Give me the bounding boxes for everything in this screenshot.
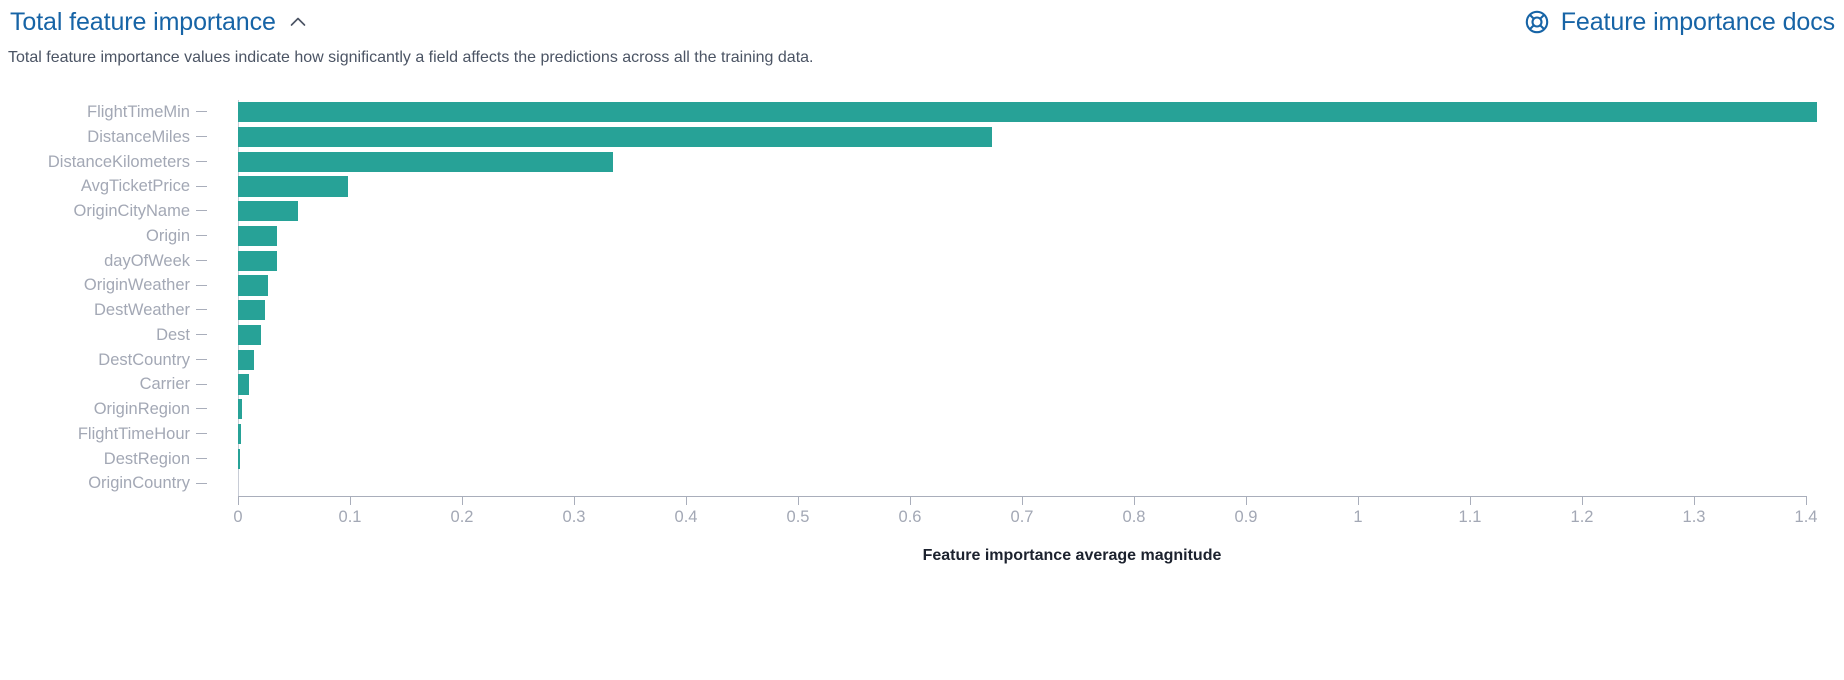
x-axis-tick	[798, 496, 799, 505]
x-axis-tick	[574, 496, 575, 505]
bar-category-label: dayOfWeek	[104, 249, 190, 274]
x-axis-tick-label: 0.3	[563, 508, 586, 527]
bar[interactable]	[238, 226, 277, 246]
y-axis-tick	[196, 359, 207, 360]
y-axis-tick	[196, 111, 207, 112]
feature-importance-panel: Total feature importance Feature importa…	[0, 0, 1844, 680]
x-axis-tick-label: 1.1	[1459, 508, 1482, 527]
x-axis-tick	[686, 496, 687, 505]
x-axis-tick	[1246, 496, 1247, 505]
x-axis-title-text: Feature importance average magnitude	[923, 547, 1222, 564]
x-axis-tick-label: 1.3	[1683, 508, 1706, 527]
x-axis-tick	[1806, 496, 1807, 505]
bar-row[interactable]: DestWeather	[0, 298, 1844, 323]
y-axis-tick	[196, 136, 207, 137]
bar[interactable]	[238, 127, 992, 147]
y-axis-tick	[196, 458, 207, 459]
x-axis-tick-label: 1.4	[1795, 508, 1818, 527]
x-axis-tick-label: 0.7	[1011, 508, 1034, 527]
bar-row[interactable]: dayOfWeek	[0, 249, 1844, 274]
x-axis-tick-label: 0.1	[339, 508, 362, 527]
y-axis-tick	[196, 433, 207, 434]
bar[interactable]	[238, 251, 277, 271]
bar-category-label: OriginCityName	[74, 199, 190, 224]
x-axis-tick-label: 1.2	[1571, 508, 1594, 527]
bar-category-label: OriginCountry	[88, 471, 190, 496]
bar-row[interactable]: AvgTicketPrice	[0, 174, 1844, 199]
bar-category-label: DistanceMiles	[87, 125, 190, 150]
bar-row[interactable]: FlightTimeMin	[0, 100, 1844, 125]
bar-category-label: AvgTicketPrice	[81, 174, 190, 199]
bar-row[interactable]: DistanceKilometers	[0, 150, 1844, 175]
x-axis-tick-label: 0.2	[451, 508, 474, 527]
x-axis-tick	[1358, 496, 1359, 505]
bar[interactable]	[238, 176, 348, 196]
x-axis-tick	[1694, 496, 1695, 505]
x-axis-tick	[238, 496, 239, 505]
bar-row[interactable]: DistanceMiles	[0, 125, 1844, 150]
x-axis-tick-label: 0.5	[787, 508, 810, 527]
panel-description: Total feature importance values indicate…	[8, 46, 813, 70]
bar-row[interactable]: FlightTimeHour	[0, 422, 1844, 447]
bar-category-label: DestWeather	[94, 298, 190, 323]
bar-category-label: DestCountry	[98, 348, 190, 373]
bar[interactable]	[238, 325, 261, 345]
bar-row[interactable]: OriginWeather	[0, 273, 1844, 298]
bar-category-label: DistanceKilometers	[48, 150, 190, 175]
y-axis-tick	[196, 260, 207, 261]
bar-category-label: OriginRegion	[94, 397, 190, 422]
bar[interactable]	[238, 424, 241, 444]
feature-importance-chart: FlightTimeMinDistanceMilesDistanceKilome…	[0, 92, 1844, 680]
help-lifebuoy-icon	[1524, 9, 1550, 35]
bar-category-label: Origin	[146, 224, 190, 249]
chevron-up-icon[interactable]	[288, 12, 308, 32]
x-axis-tick	[1470, 496, 1471, 505]
panel-header: Total feature importance Feature importa…	[0, 0, 1844, 44]
bar[interactable]	[238, 449, 240, 469]
bar[interactable]	[238, 350, 254, 370]
x-axis-title: Feature importance average magnitude	[0, 547, 1844, 565]
bar-category-label: Carrier	[140, 372, 190, 397]
bar-row[interactable]: Carrier	[0, 372, 1844, 397]
page-title: Total feature importance	[10, 7, 276, 37]
bar-category-label: DestRegion	[104, 447, 190, 472]
y-axis-tick	[196, 384, 207, 385]
x-axis-tick	[1022, 496, 1023, 505]
feature-importance-docs-link[interactable]: Feature importance docs	[1524, 7, 1836, 37]
x-axis-tick	[1134, 496, 1135, 505]
bar-category-label: FlightTimeMin	[87, 100, 190, 125]
y-axis-tick	[196, 285, 207, 286]
bar[interactable]	[238, 300, 265, 320]
bar-category-label: FlightTimeHour	[78, 422, 190, 447]
bar-category-label: OriginWeather	[84, 273, 190, 298]
bar-row[interactable]: Origin	[0, 224, 1844, 249]
y-axis-tick	[196, 210, 207, 211]
bar[interactable]	[238, 275, 268, 295]
bar-row[interactable]: OriginRegion	[0, 397, 1844, 422]
x-axis-tick-label: 0.4	[675, 508, 698, 527]
bar[interactable]	[238, 201, 298, 221]
bar-row[interactable]: OriginCountry	[0, 471, 1844, 496]
panel-title-toggle[interactable]: Total feature importance	[8, 5, 310, 39]
bar-row[interactable]: OriginCityName	[0, 199, 1844, 224]
x-axis-tick	[910, 496, 911, 505]
y-axis-tick	[196, 408, 207, 409]
x-axis-tick	[462, 496, 463, 505]
bar-row[interactable]: DestCountry	[0, 348, 1844, 373]
y-axis-tick	[196, 334, 207, 335]
x-axis-tick-label: 0.8	[1123, 508, 1146, 527]
x-axis-tick-label: 0	[233, 508, 242, 527]
bar-rows: FlightTimeMinDistanceMilesDistanceKilome…	[0, 100, 1844, 496]
bar-row[interactable]: DestRegion	[0, 447, 1844, 472]
x-axis-tick-label: 0.9	[1235, 508, 1258, 527]
y-axis-tick	[196, 161, 207, 162]
docs-link-label: Feature importance docs	[1561, 7, 1835, 37]
bar-category-label: Dest	[156, 323, 190, 348]
bar[interactable]	[238, 399, 242, 419]
bar-row[interactable]: Dest	[0, 323, 1844, 348]
x-axis-tick-label: 0.6	[899, 508, 922, 527]
bar[interactable]	[238, 152, 613, 172]
x-axis-tick	[1582, 496, 1583, 505]
y-axis-tick	[196, 309, 207, 310]
y-axis-tick	[196, 186, 207, 187]
x-axis-tick	[350, 496, 351, 505]
y-axis-tick	[196, 235, 207, 236]
bar[interactable]	[238, 374, 249, 394]
bar[interactable]	[238, 102, 1817, 122]
y-axis-tick	[196, 483, 207, 484]
x-axis-tick-label: 1	[1353, 508, 1362, 527]
